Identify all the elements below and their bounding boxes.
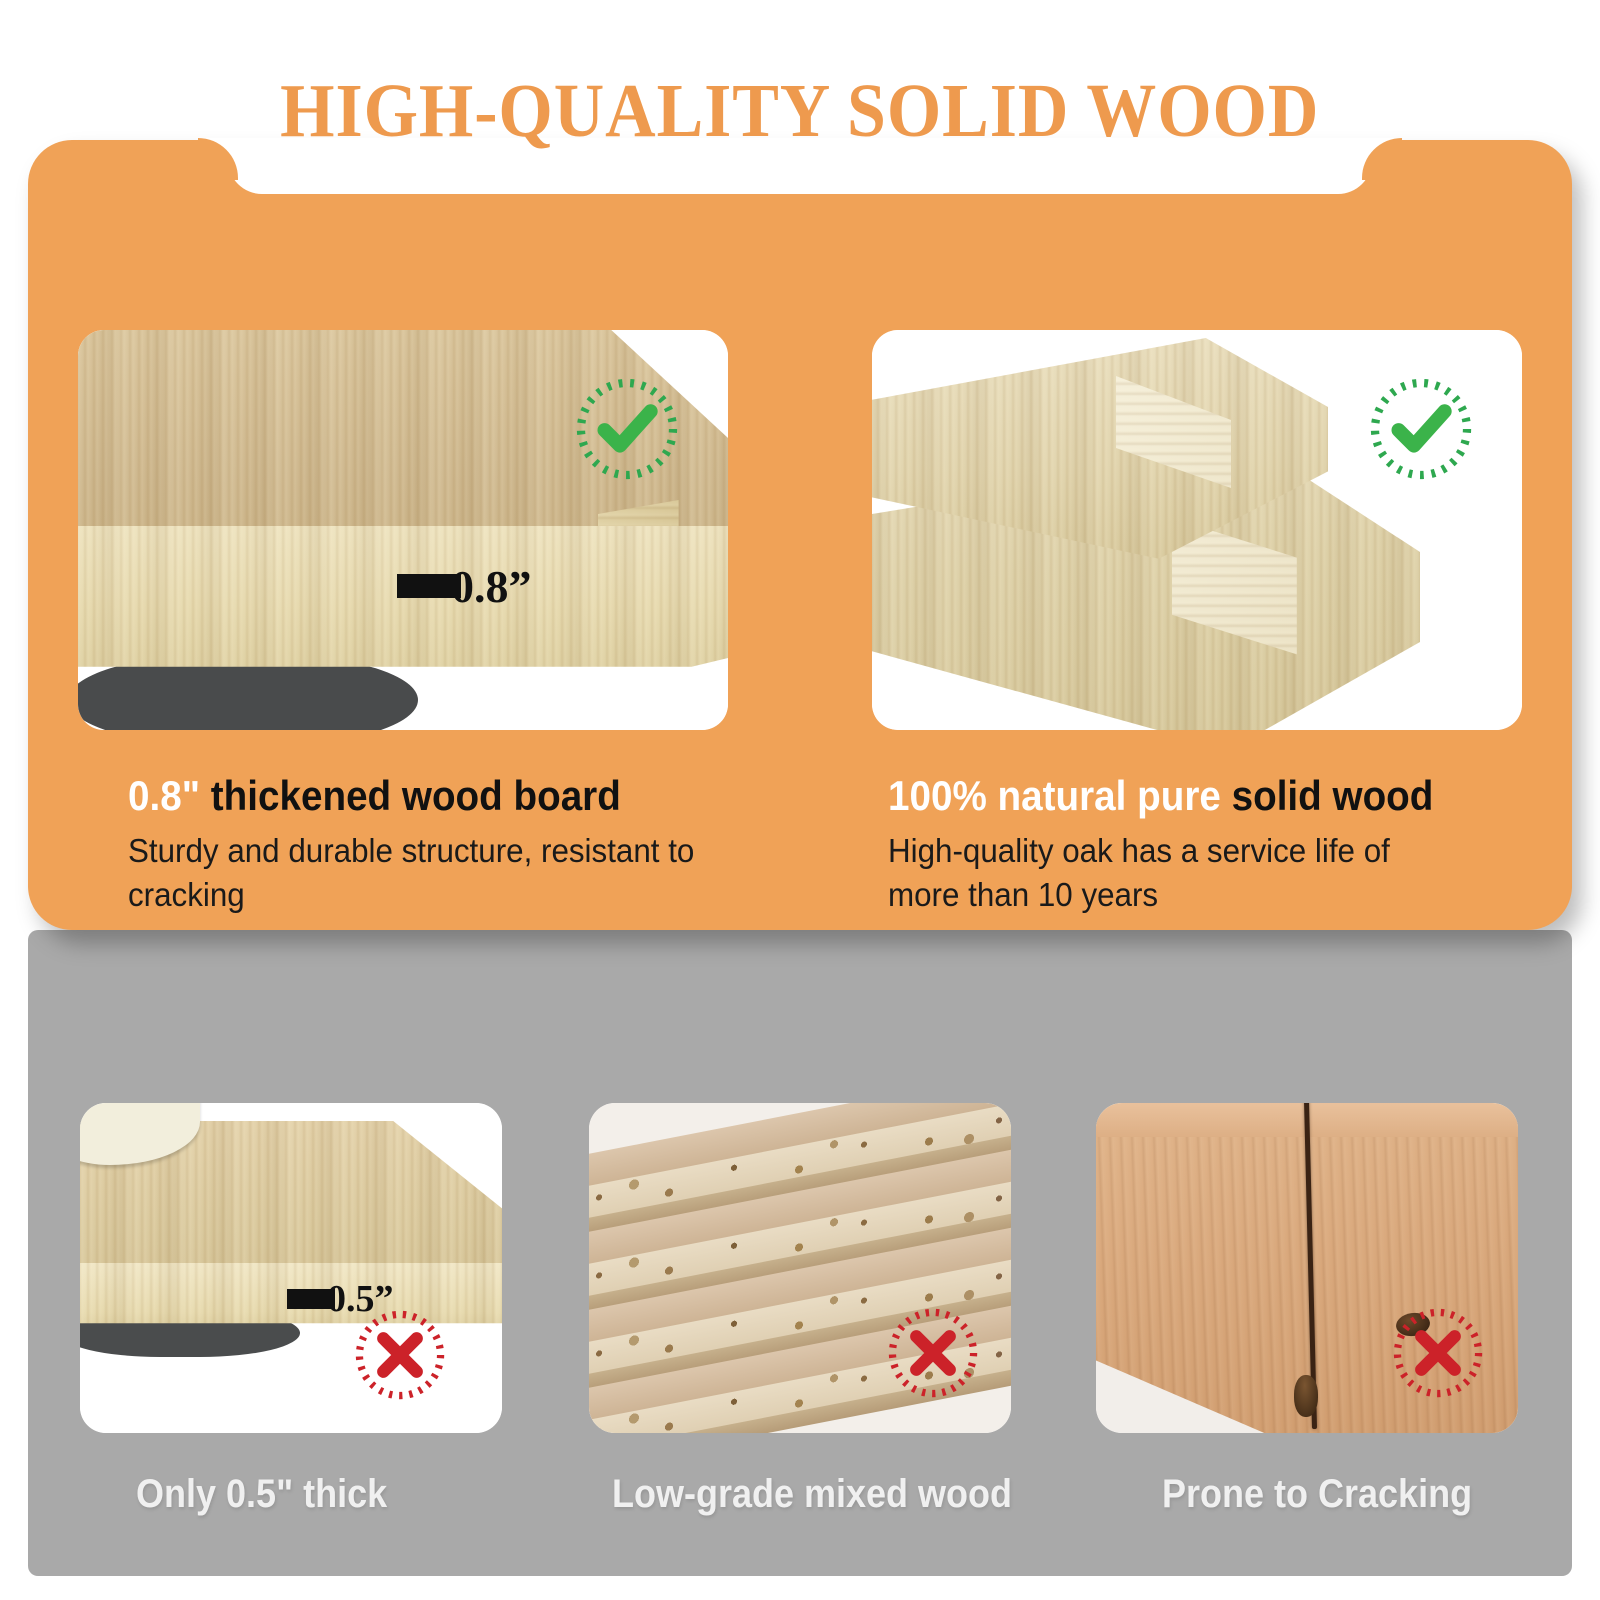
caption-highlight: 0.8"	[128, 772, 200, 819]
cross-icon	[348, 1303, 452, 1407]
caption-highlight: 100% natural pure	[888, 772, 1221, 819]
check-icon	[1362, 370, 1480, 488]
cross-icon	[881, 1301, 985, 1405]
caption-description: Sturdy and durable structure, resistant …	[128, 829, 698, 916]
caption-title: 100% natural pure solid wood	[888, 773, 1440, 819]
caption-title: 0.8" thickened wood board	[128, 773, 680, 819]
dimension-marker-08: 0.8”	[423, 512, 532, 660]
title-notch	[228, 138, 1372, 194]
other-product-card-3	[1096, 1103, 1518, 1433]
other-product-card-1: 0.5”	[80, 1103, 502, 1433]
cross-icon	[1386, 1301, 1490, 1405]
product-comparison-infographic: HIGH-QUALITY SOLID WOOD Our Product Othe…	[0, 0, 1600, 1600]
other-product-label-1: Only 0.5" thick	[136, 1472, 387, 1517]
our-product-caption-1: 0.8" thickened wood board Sturdy and dur…	[128, 773, 728, 916]
our-product-card-2	[872, 330, 1522, 730]
dimension-label-08: 0.8”	[451, 560, 532, 613]
other-product-card-2	[589, 1103, 1011, 1433]
title-notch-ear-right	[1362, 138, 1402, 180]
title-notch-ear-left	[198, 138, 238, 180]
caption-rest: thickened wood board	[211, 772, 621, 819]
check-icon	[568, 370, 686, 488]
caption-description: High-quality oak has a service life of m…	[888, 829, 1458, 916]
our-product-card-1: 0.8”	[78, 330, 728, 730]
other-product-label-2: Low-grade mixed wood	[612, 1472, 1012, 1517]
other-product-label-3: Prone to Cracking	[1162, 1472, 1472, 1517]
caption-rest: solid wood	[1232, 772, 1434, 819]
our-product-caption-2: 100% natural pure solid wood High-qualit…	[888, 773, 1488, 916]
